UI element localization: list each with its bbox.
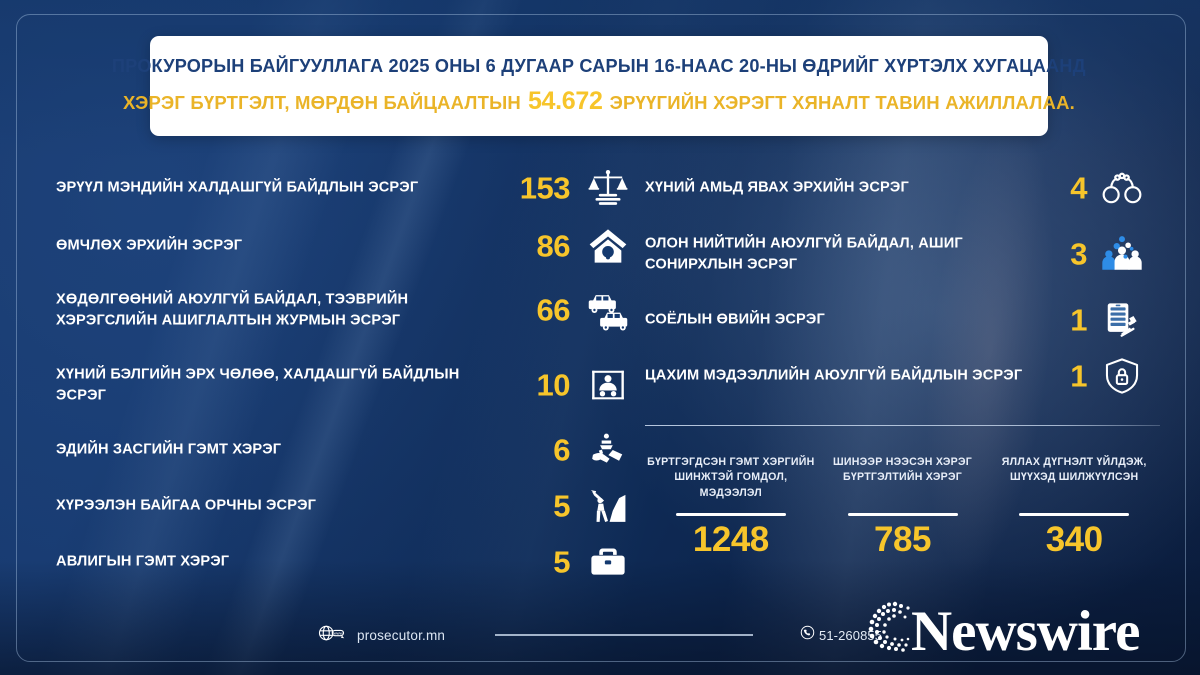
phone-icon [800, 625, 815, 645]
category-label: ХӨДӨЛГӨӨНИЙ АЮУЛГҮЙ БАЙДАЛ, ТЭЭВРИЙН ХЭР… [56, 289, 476, 330]
header-total-cases: 54.672 [528, 88, 603, 116]
stat-block: БҮРТГЭГДСЭН ГЭМТ ХЭРГИЙН ШИНЖТЭЙ ГОМДОЛ,… [645, 455, 817, 557]
category-label: ХҮНИЙ АМЬД ЯВАХ ЭРХИЙН ЭСРЭГ [645, 178, 1035, 199]
category-value: 66 [474, 295, 570, 326]
handcuffs-icon [1100, 166, 1144, 210]
category-label: ХҮРЭЭЛЭН БАЙГАА ОРЧНЫ ЭСРЭГ [56, 496, 476, 517]
category-label: АВЛИГЫН ГЭМТ ХЭРЭГ [56, 552, 476, 573]
briefcase-icon [586, 540, 630, 584]
header-banner: ПРОКУРОРЫН БАЙГУУЛЛАГА 2025 ОНЫ 6 ДУГААР… [150, 36, 1048, 136]
category-value: 153 [474, 173, 570, 204]
category-value: 6 [474, 435, 570, 466]
header-line-2: ХЭРЭГ БҮРТГЭЛТ, МӨРДӨН БАЙЦААЛТЫН 54.672… [123, 88, 1075, 116]
category-value: 4 [1033, 173, 1087, 204]
stats-row: БҮРТГЭГДСЭН ГЭМТ ХЭРГИЙН ШИНЖТЭЙ ГОМДОЛ,… [645, 455, 1160, 557]
list-item: ОЛОН НИЙТИЙН АЮУЛГҮЙ БАЙДАЛ, АШИГ СОНИРХ… [645, 218, 1155, 290]
header-line-1: ПРОКУРОРЫН БАЙГУУЛЛАГА 2025 ОНЫ 6 ДУГААР… [112, 56, 1086, 76]
list-item: ӨМЧЛӨХ ЭРХИЙН ЭСРЭГ 86 [56, 218, 616, 274]
category-label: ЭДИЙН ЗАСГИЙН ГЭМТ ХЭРЭГ [56, 440, 476, 461]
category-value: 5 [474, 547, 570, 578]
category-value: 86 [474, 231, 570, 262]
header-line-2-prefix: ХЭРЭГ БҮРТГЭЛТ, МӨРДӨН БАЙЦААЛТЫН [123, 93, 521, 113]
category-value: 1 [1033, 305, 1087, 336]
crowd-people-icon [1100, 232, 1144, 276]
footer-divider [495, 634, 753, 636]
stat-caption: ЯЛЛАХ ДҮГНЭЛТ ҮЙЛДЭЖ, ШҮҮХЭД ШИЛЖҮҮЛСЭН [988, 455, 1160, 503]
newswire-wordmark: Newswire [911, 603, 1139, 660]
stat-value: 785 [874, 522, 931, 557]
house-lock-icon [586, 224, 630, 268]
mining-axe-icon [586, 484, 630, 528]
stat-value: 340 [1046, 522, 1103, 557]
stat-rule [848, 513, 958, 516]
list-item: ХҮНИЙ БЭЛГИЙН ЭРХ ЧӨЛӨӨ, ХАЛДАШГҮЙ БАЙДЛ… [56, 350, 616, 420]
stat-block: ЯЛЛАХ ДҮГНЭЛТ ҮЙЛДЭЖ, ШҮҮХЭД ШИЛЖҮҮЛСЭН … [988, 455, 1160, 557]
shield-lock-icon [1100, 354, 1144, 398]
category-value: 3 [1033, 239, 1087, 270]
list-item: ХҮНИЙ АМЬД ЯВАХ ЭРХИЙН ЭСРЭГ 4 [645, 160, 1155, 216]
category-label: ХҮНИЙ БЭЛГИЙН ЭРХ ЧӨЛӨӨ, ХАЛДАШГҮЙ БАЙДЛ… [56, 364, 476, 405]
swoosh-logo-icon [855, 600, 913, 662]
stat-rule [676, 513, 786, 516]
scales-of-justice-icon [586, 166, 630, 210]
stat-rule [1019, 513, 1129, 516]
newswire-logo: Newswire [855, 600, 1139, 662]
category-value: 1 [1033, 361, 1087, 392]
car-crash-icon [586, 288, 630, 332]
header-line-2-suffix: ЭРҮҮГИЙН ХЭРЭГТ ХЯНАЛТ ТАВИН АЖИЛЛАЛАА. [610, 93, 1075, 113]
website-link[interactable]: www prosecutor.mn [318, 622, 445, 649]
website-text: prosecutor.mn [357, 628, 445, 643]
globe-www-icon: www [318, 622, 348, 649]
svg-text:www: www [334, 630, 343, 635]
category-value: 10 [474, 370, 570, 401]
infographic-canvas: ПРОКУРОРЫН БАЙГУУЛЛАГА 2025 ОНЫ 6 ДУГААР… [0, 0, 1200, 675]
document-stamp-icon [1100, 298, 1144, 342]
list-item: ЭРҮҮЛ МЭНДИЙН ХАЛДАШГҮЙ БАЙДЛЫН ЭСРЭГ 15… [56, 160, 616, 216]
stats-divider [645, 425, 1160, 426]
stat-block: ШИНЭЭР НЭЭСЭН ХЭРЭГ БҮРТГЭЛТИЙН ХЭРЭГ 78… [817, 455, 989, 557]
stat-value: 1248 [693, 522, 769, 557]
category-label: СОЁЛЫН ӨВИЙН ЭСРЭГ [645, 310, 1035, 331]
list-item: ЭДИЙН ЗАСГИЙН ГЭМТ ХЭРЭГ 6 [56, 424, 616, 476]
list-item: АВЛИГЫН ГЭМТ ХЭРЭГ 5 [56, 536, 616, 588]
list-item: СОЁЛЫН ӨВИЙН ЭСРЭГ 1 [645, 294, 1155, 346]
list-item: ХҮРЭЭЛЭН БАЙГАА ОРЧНЫ ЭСРЭГ 5 [56, 480, 616, 532]
category-label: ЭРҮҮЛ МЭНДИЙН ХАЛДАШГҮЙ БАЙДЛЫН ЭСРЭГ [56, 178, 476, 199]
category-label: ОЛОН НИЙТИЙН АЮУЛГҮЙ БАЙДАЛ, АШИГ СОНИРХ… [645, 233, 1035, 274]
category-label: ӨМЧЛӨХ ЭРХИЙН ЭСРЭГ [56, 236, 476, 257]
stat-caption: БҮРТГЭГДСЭН ГЭМТ ХЭРГИЙН ШИНЖТЭЙ ГОМДОЛ,… [645, 455, 817, 503]
hand-bribe-icon [586, 428, 630, 472]
list-item: ЦАХИМ МЭДЭЭЛЛИЙН АЮУЛГҮЙ БАЙДЛЫН ЭСРЭГ 1 [645, 350, 1155, 402]
stat-caption: ШИНЭЭР НЭЭСЭН ХЭРЭГ БҮРТГЭЛТИЙН ХЭРЭГ [817, 455, 989, 503]
list-item: ХӨДӨЛГӨӨНИЙ АЮУЛГҮЙ БАЙДАЛ, ТЭЭВРИЙН ХЭР… [56, 276, 616, 344]
category-value: 5 [474, 491, 570, 522]
prison-bars-person-icon [586, 363, 630, 407]
category-label: ЦАХИМ МЭДЭЭЛЛИЙН АЮУЛГҮЙ БАЙДЛЫН ЭСРЭГ [645, 366, 1035, 387]
